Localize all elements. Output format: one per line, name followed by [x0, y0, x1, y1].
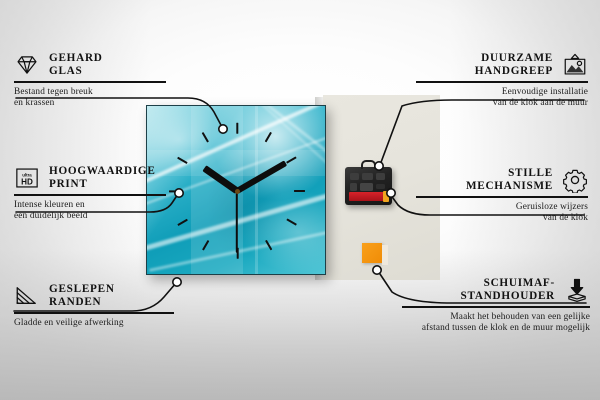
callout-title-line1: GESLEPEN — [49, 283, 115, 296]
callout-description: Geruisloze wijzers van de klok — [416, 202, 588, 225]
infographic-canvas: GEHARD GLAS Bestand tegen breuk en krass… — [0, 0, 600, 400]
callout-title-line1: DUURZAME — [475, 52, 553, 65]
desc-line-2: afstand tussen de klok en de muur mogeli… — [402, 323, 590, 334]
callout-title-line1: STILLE — [466, 167, 553, 180]
callout-title-line2: HANDGREEP — [475, 65, 553, 78]
foam-spacer-block — [362, 243, 382, 263]
movement-detail — [350, 183, 357, 191]
callout-rule — [416, 81, 588, 82]
callout-header: ultra HD HOOGWAARDIGE PRINT — [14, 165, 174, 191]
callout-header: GEHARD GLAS — [14, 52, 174, 78]
foam-spacer-arrow-icon — [564, 277, 590, 303]
callout-schuimaf-standhouder[interactable]: SCHUIMAF- STANDHOUDER Maakt het behouden… — [402, 277, 590, 335]
desc-line-2: een duidelijk beeld — [14, 211, 174, 222]
callout-title-line1: GEHARD — [49, 52, 103, 65]
callout-description: Eenvoudige installatie van de klok aan d… — [416, 87, 588, 110]
callout-duurzame-handgreep[interactable]: DUURZAME HANDGREEP Eenvoudige installati… — [416, 52, 588, 110]
callout-header: DUURZAME HANDGREEP — [416, 52, 588, 78]
callout-hoogwaardige-print[interactable]: ultra HD HOOGWAARDIGE PRINT Intense kleu… — [14, 165, 174, 223]
svg-text:ultra: ultra — [22, 173, 32, 178]
callout-title-line2: STANDHOUDER — [461, 290, 555, 303]
desc-line-1: Intense kleuren en — [14, 200, 174, 211]
callout-description: Gladde en veilige afwerking — [14, 318, 184, 329]
callout-header: GESLEPEN RANDEN — [14, 283, 184, 309]
movement-detail — [362, 173, 373, 180]
callout-title-line2: PRINT — [49, 178, 156, 191]
callout-description: Bestand tegen breuk en krassen — [14, 87, 174, 110]
desc-line-1: Maakt het behouden van een gelijke — [402, 312, 590, 323]
desc-line-1: Eenvoudige installatie — [416, 87, 588, 98]
callout-rule — [14, 312, 174, 313]
desc-line-2: van de klok aan de muur — [416, 98, 588, 109]
callout-header: SCHUIMAF- STANDHOUDER — [402, 277, 590, 303]
callout-title-line1: SCHUIMAF- — [461, 277, 555, 290]
callout-rule — [14, 81, 166, 82]
callout-rule — [416, 196, 588, 197]
callout-rule — [14, 194, 166, 195]
clock-tick — [236, 123, 238, 134]
product-photo — [140, 95, 440, 290]
desc-line-2: en krassen — [14, 98, 174, 109]
desc-line-1: Bestand tegen breuk — [14, 87, 174, 98]
callout-geslepen-randen[interactable]: GESLEPEN RANDEN Gladde en veilige afwerk… — [14, 283, 184, 329]
picture-frame-hanger-icon — [562, 52, 588, 78]
glass-reflection — [255, 106, 258, 274]
movement-hanger-icon — [361, 160, 376, 169]
callout-description: Intense kleuren en een duidelijk beeld — [14, 200, 174, 223]
callout-title-line2: GLAS — [49, 65, 103, 78]
svg-text:HD: HD — [21, 178, 33, 187]
movement-detail — [376, 184, 385, 189]
callout-rule — [402, 306, 590, 307]
ultra-hd-icon: ultra HD — [14, 165, 40, 191]
diamond-icon — [14, 52, 40, 78]
callout-title-line2: RANDEN — [49, 296, 115, 309]
callout-title-line2: MECHANISME — [466, 180, 553, 193]
movement-detail — [360, 183, 373, 191]
desc-line-2: van de klok — [416, 213, 588, 224]
callout-gehard-glas[interactable]: GEHARD GLAS Bestand tegen breuk en krass… — [14, 52, 174, 110]
clock-hub — [235, 189, 240, 194]
battery — [349, 192, 387, 201]
callout-description: Maakt het behouden van een gelijke afsta… — [402, 312, 590, 335]
callout-header: STILLE MECHANISME — [416, 167, 588, 193]
desc-line-1: Geruisloze wijzers — [416, 202, 588, 213]
desc-line-1: Gladde en veilige afwerking — [14, 318, 184, 329]
movement-detail — [350, 173, 359, 180]
gear-icon — [562, 167, 588, 193]
callout-title-line1: HOOGWAARDIGE — [49, 165, 156, 178]
clock-movement-mechanism — [345, 167, 392, 205]
movement-detail — [376, 173, 385, 180]
beveled-edge-icon — [14, 283, 40, 309]
foam-spacer-side — [382, 245, 388, 265]
second-hand — [236, 191, 238, 253]
battery-terminal — [383, 191, 389, 202]
callout-stille-mechanisme[interactable]: STILLE MECHANISME Geruisloze wijzers van… — [416, 167, 588, 225]
